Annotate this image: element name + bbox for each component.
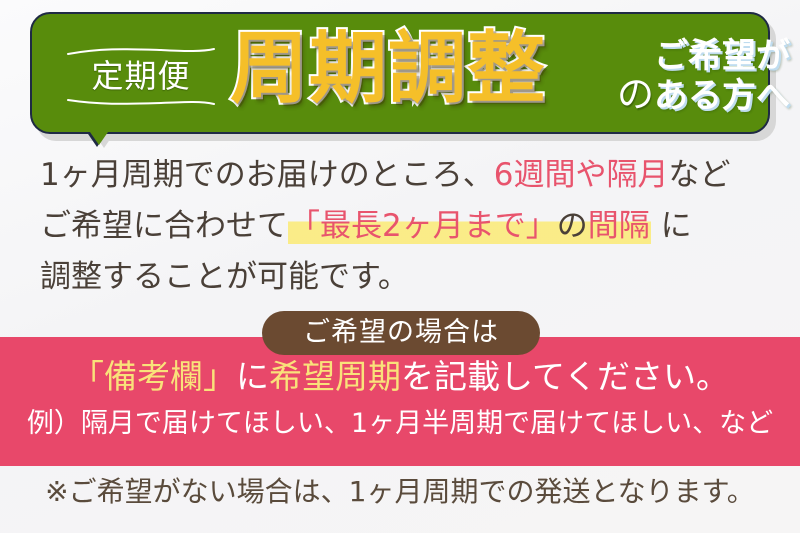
instruction-particle-1: に (236, 357, 269, 396)
wave-rule-bottom-icon (66, 97, 216, 106)
banner-title-particle: の (617, 76, 654, 113)
instruction-desired-cycle: 希望周期 (269, 357, 401, 396)
body-line-2-emphasis-b: 間隔 (588, 208, 650, 244)
subscription-badge: 定期便 (62, 36, 220, 116)
instruction-band-example: 例）隔月で届けてほしい、1ヶ月半周期で届けてほしい、など (0, 409, 800, 439)
request-case-pill: ご希望の場合は (262, 311, 540, 355)
instruction-remarks-field: 「備考欄」 (71, 357, 236, 396)
banner-subtitle: ご希望が ある方へ (654, 36, 794, 116)
body-line-3: 調整することが可能です。 (40, 252, 770, 303)
body-line-1-segment-a: 1ヶ月周期でのお届けのところ、 (40, 157, 494, 193)
header-banner-tail (90, 132, 108, 145)
body-line-2-highlight: 「最長2ヶ月まで」の間隔 (288, 208, 651, 244)
subscription-badge-label: 定期便 (91, 56, 190, 97)
header-banner: 定期便 周期調整 の ご希望が ある方へ (30, 12, 770, 134)
header-banner-body: 定期便 周期調整 の ご希望が ある方へ (30, 12, 770, 134)
instruction-band-headline: 「備考欄」に希望周期を記載してください。 (0, 359, 800, 395)
body-line-2-connector: の (557, 208, 588, 244)
body-line-2: ご希望に合わせて「最長2ヶ月まで」の間隔 に (40, 201, 770, 252)
promo-banner-page: 定期便 周期調整 の ご希望が ある方へ 1ヶ月周期でのお届けのところ、6週間や… (0, 0, 800, 533)
footer-note: ※ご希望がない場合は、1ヶ月周期での発送となります。 (0, 477, 800, 508)
body-line-2-segment-b: に (651, 208, 692, 244)
wave-rule-top-icon (66, 47, 216, 56)
banner-subtitle-line2: ある方へ (654, 76, 794, 116)
body-line-2-emphasis-a: 「最長2ヶ月まで」 (289, 208, 557, 244)
body-line-1-emphasis: 6週間や隔月 (494, 157, 669, 193)
banner-subtitle-line1: ご希望が (654, 36, 794, 76)
body-line-2-segment-a: ご希望に合わせて (40, 208, 288, 244)
banner-title-main: 周期調整 (230, 30, 546, 108)
body-line-1-segment-b: など (668, 157, 730, 193)
body-line-1: 1ヶ月周期でのお届けのところ、6週間や隔月など (40, 150, 770, 201)
instruction-tail: を記載してください。 (401, 357, 729, 396)
instruction-band: 「備考欄」に希望周期を記載してください。 例）隔月で届けてほしい、1ヶ月半周期で… (0, 337, 800, 466)
body-copy: 1ヶ月周期でのお届けのところ、6週間や隔月など ご希望に合わせて「最長2ヶ月まで… (40, 150, 770, 303)
